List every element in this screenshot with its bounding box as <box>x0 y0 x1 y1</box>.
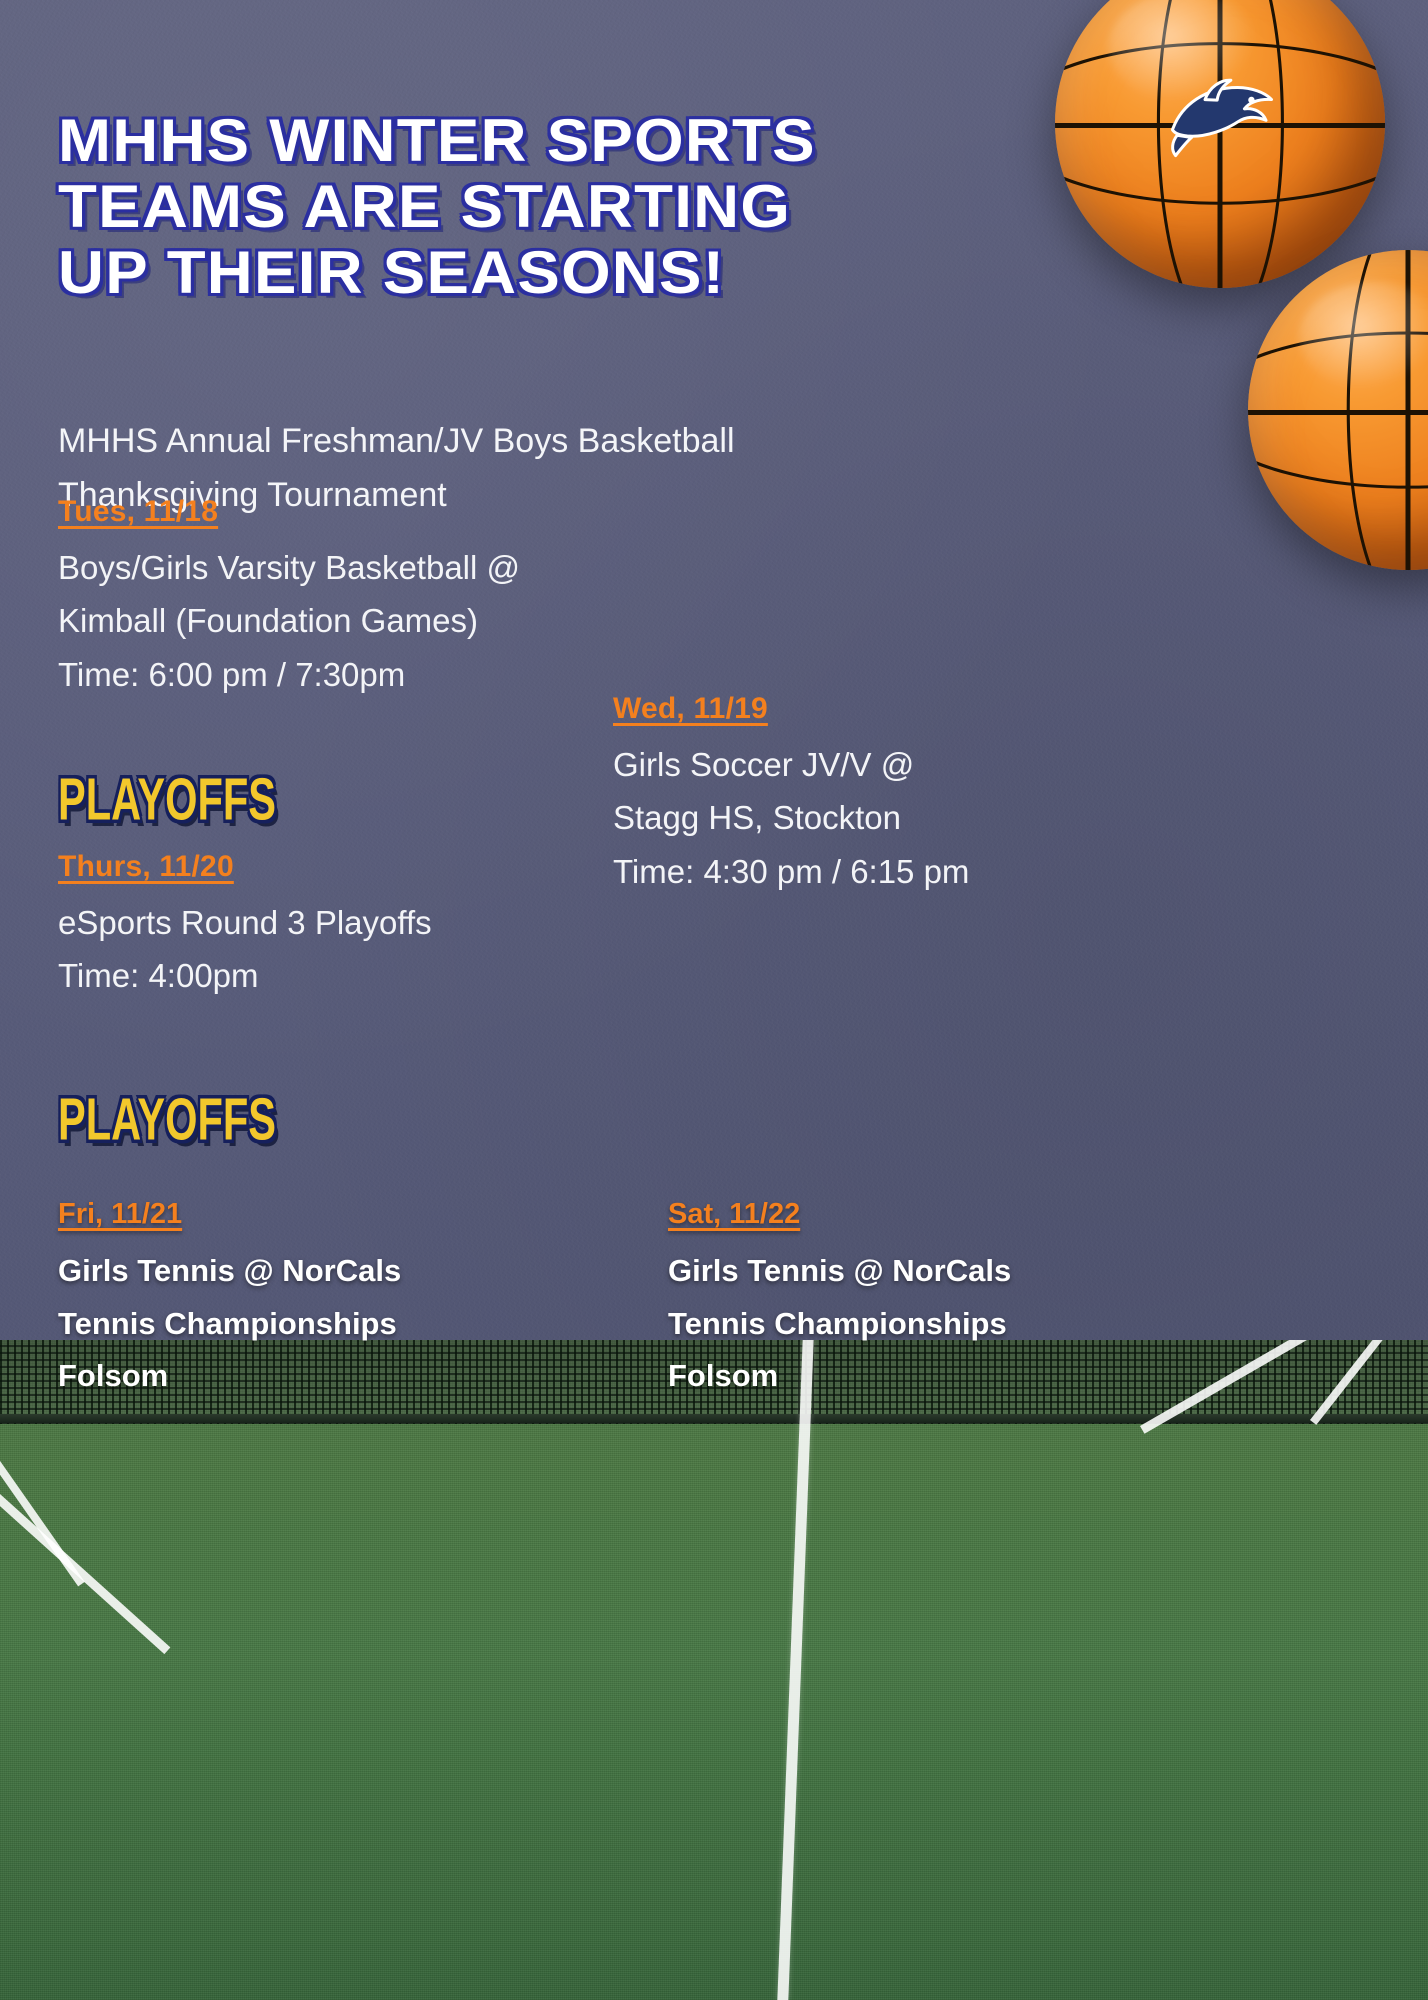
page-title: MHHS WINTER SPORTS TEAMS ARE STARTING UP… <box>58 108 885 306</box>
playoffs-badge-bottom: PLAYOFFS <box>58 1086 276 1154</box>
event-block-saturday: Sat, 11/22 Girls Tennis @ NorCals Tennis… <box>668 1198 1011 1403</box>
event-detail-line: Girls Tennis @ NorCals <box>58 1245 401 1298</box>
event-detail-line: Time: 4:00pm <box>58 949 658 1002</box>
event-date-saturday: Sat, 11/22 <box>668 1198 800 1231</box>
event-detail-line: Tennis Championships <box>668 1298 1011 1351</box>
event-detail-line: Stagg HS, Stockton <box>613 791 1173 844</box>
page-title-line-2: TEAMS ARE STARTING <box>58 174 885 240</box>
event-date-wednesday: Wed, 11/19 <box>613 692 768 726</box>
basketball-highlight <box>1299 282 1428 391</box>
dolphin-mascot-logo <box>1159 71 1279 158</box>
event-date-thursday: Thurs, 11/20 <box>58 850 234 884</box>
event-block-wednesday: Wed, 11/19 Girls Soccer JV/V @ Stagg HS,… <box>613 692 1173 898</box>
event-date-friday: Fri, 11/21 <box>58 1198 182 1231</box>
event-detail-line: Girls Soccer JV/V @ <box>613 738 1173 791</box>
tennis-net-band <box>0 1414 1428 1423</box>
event-detail-line: Girls Tennis @ NorCals <box>668 1245 1011 1298</box>
page-title-line-1: MHHS WINTER SPORTS <box>58 108 885 174</box>
basketball-icon-right-edge <box>1248 250 1428 570</box>
event-detail-line: Boys/Girls Varsity Basketball @ <box>58 541 658 594</box>
playoffs-badge-top: PLAYOFFS <box>58 766 276 834</box>
event-detail-line: eSports Round 3 Playoffs <box>58 896 658 949</box>
basketball-icon-top-right <box>1055 0 1385 288</box>
event-block-tuesday: Tues, 11/18 Boys/Girls Varsity Basketbal… <box>58 495 658 701</box>
event-detail-line: Kimball (Foundation Games) <box>58 594 658 647</box>
event-detail-line: Tennis Championships <box>58 1298 401 1351</box>
basketball-seam-horizontal <box>1248 410 1428 415</box>
event-detail-line: Folsom <box>58 1350 401 1403</box>
event-block-thursday: Thurs, 11/20 eSports Round 3 Playoffs Ti… <box>58 850 658 1003</box>
event-date-tuesday: Tues, 11/18 <box>58 495 218 529</box>
winter-sports-flyer: MHHS WINTER SPORTS TEAMS ARE STARTING UP… <box>0 0 1428 2000</box>
court-surface-texture <box>0 1340 1428 2000</box>
tennis-court-panel <box>0 1340 1428 2000</box>
subtitle-line-1: MHHS Annual Freshman/JV Boys Basketball <box>58 415 858 469</box>
event-block-friday: Fri, 11/21 Girls Tennis @ NorCals Tennis… <box>58 1198 401 1403</box>
page-title-line-3: UP THEIR SEASONS! <box>58 240 885 306</box>
event-detail-line: Time: 4:30 pm / 6:15 pm <box>613 845 1173 898</box>
event-detail-line: Folsom <box>668 1350 1011 1403</box>
event-detail-line: Time: 6:00 pm / 7:30pm <box>58 648 658 701</box>
